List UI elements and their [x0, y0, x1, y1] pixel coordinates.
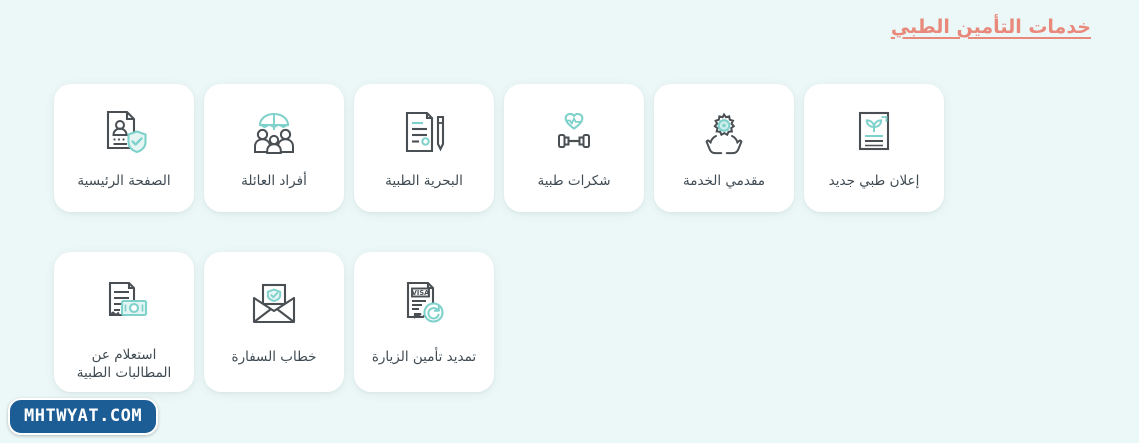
service-card-embassy-letter[interactable]: خطاب السفارة — [204, 252, 344, 392]
document-sprout-icon — [851, 106, 897, 158]
page-root: خدمات التأمين الطبي — [0, 0, 1139, 443]
page-title: خدمات التأمين الطبي — [891, 16, 1091, 38]
service-card-service-providers[interactable]: مقدمي الخدمة — [654, 84, 794, 212]
service-card-label: إعلان طبي جديد — [829, 172, 920, 190]
family-umbrella-icon — [246, 106, 302, 158]
envelope-verified-icon — [247, 278, 301, 330]
service-card-medical-freedom[interactable]: البحرية الطبية — [354, 84, 494, 212]
service-card-label: شكرات طبية — [537, 172, 610, 190]
service-card-extend-visit-insurance[interactable]: VISA تمديد تأمين الزيارة — [354, 252, 494, 392]
service-card-medical-networks[interactable]: شكرات طبية — [504, 84, 644, 212]
visa-renew-icon: VISA — [399, 278, 449, 330]
services-grid: إعلان طبي جديد مقدمي الخدمة — [54, 84, 1085, 392]
service-card-label: مقدمي الخدمة — [683, 172, 765, 190]
document-person-shield-icon — [100, 106, 148, 158]
services-row-1: إعلان طبي جديد مقدمي الخدمة — [54, 84, 944, 212]
service-card-home-page[interactable]: الصفحة الرئيسية — [54, 84, 194, 212]
service-card-family-members[interactable]: أفراد العائلة — [204, 84, 344, 212]
svg-text:VISA: VISA — [412, 289, 430, 297]
service-card-label: استعلام عن المطالبات الطبية — [77, 346, 171, 382]
service-card-medical-claims-inquiry[interactable]: استعلام عن المطالبات الطبية — [54, 252, 194, 392]
service-card-label: البحرية الطبية — [385, 172, 463, 190]
service-card-label: خطاب السفارة — [232, 348, 317, 366]
service-card-label: تمديد تأمين الزيارة — [372, 348, 476, 366]
hands-gear-icon — [699, 106, 749, 158]
services-row-2: VISA تمديد تأمين الزيارة — [54, 252, 494, 392]
document-pen-icon — [399, 106, 449, 158]
invoice-banknote-icon — [98, 278, 150, 328]
heart-dumbbell-icon — [547, 106, 601, 158]
service-card-new-medical-declaration[interactable]: إعلان طبي جديد — [804, 84, 944, 212]
service-card-label: أفراد العائلة — [241, 172, 307, 190]
watermark-badge: MHTWYAT.COM — [8, 398, 158, 435]
page-header: خدمات التأمين الطبي — [891, 16, 1091, 38]
watermark-text: MHTWYAT.COM — [24, 406, 142, 426]
service-card-label: الصفحة الرئيسية — [77, 172, 170, 190]
